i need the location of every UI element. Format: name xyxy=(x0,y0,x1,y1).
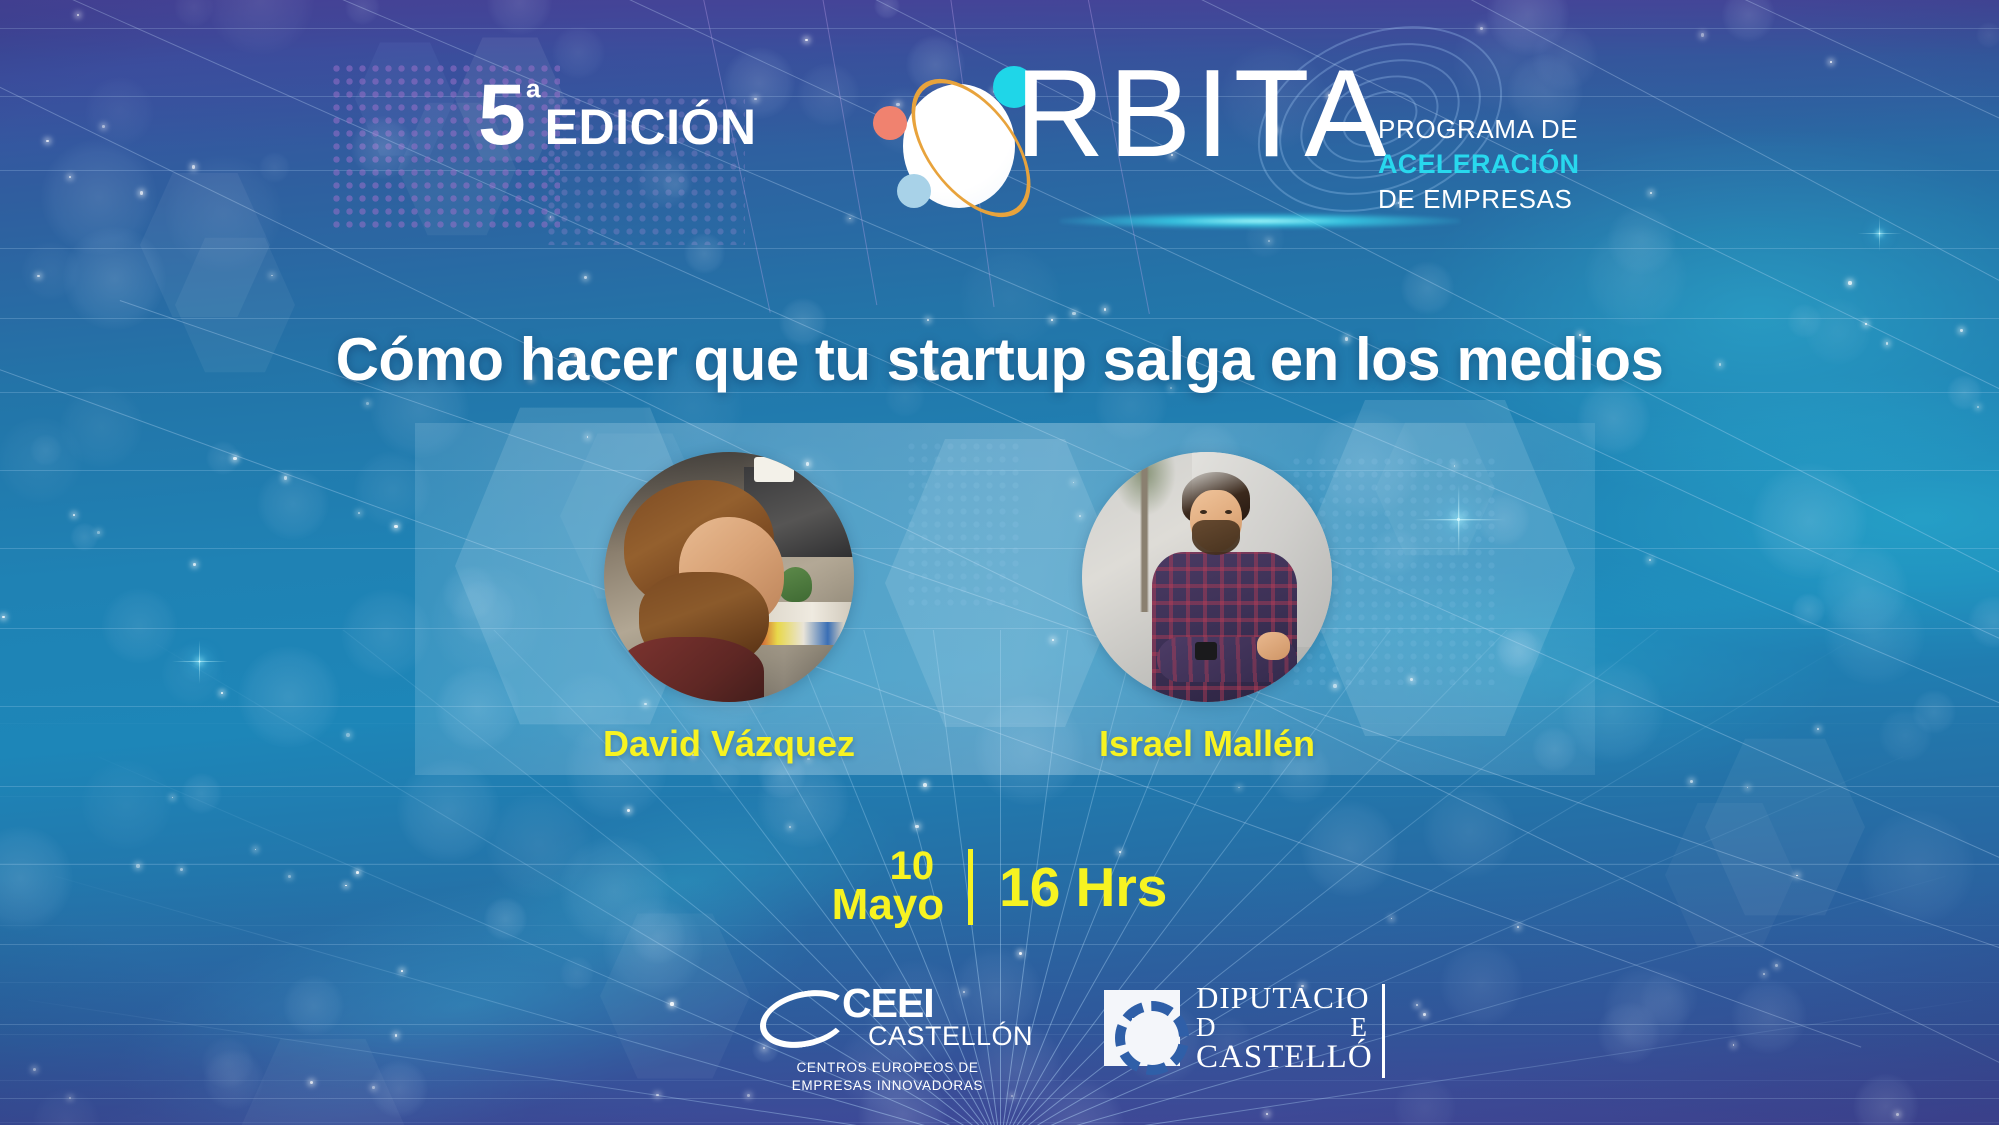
photo2-beard xyxy=(1192,520,1240,555)
ceei-descriptor-line-2: EMPRESAS INNOVADORAS xyxy=(760,1077,1015,1095)
photo2-wristwatch xyxy=(1195,642,1218,660)
orbit-dot-pale-blue xyxy=(897,174,931,208)
promo-poster: 5ªEDICIÓN RBITA PROGRAMA DE ACELERACIÓN … xyxy=(0,0,1999,1125)
page-title: Cómo hacer que tu startup salga en los m… xyxy=(0,325,1999,394)
diputacio-wordmark: DIPUTACIO D E CASTELLÓ xyxy=(1196,982,1373,1075)
photo1-torso xyxy=(619,637,764,702)
edition-ordinal: ª xyxy=(526,77,541,121)
orbit-dot-coral xyxy=(873,106,907,140)
photo1-lamp xyxy=(754,457,794,482)
tagline-line-2: ACELERACIÓN xyxy=(1378,147,1579,183)
speaker-photo-1 xyxy=(604,452,854,702)
photo2-eye-left xyxy=(1200,510,1207,514)
panel-hex-right xyxy=(1295,393,1575,743)
event-date: 10 Mayo xyxy=(832,848,968,926)
diputacio-vertical-rule xyxy=(1382,984,1385,1078)
brand-tagline: PROGRAMA DE ACELERACIÓN DE EMPRESAS xyxy=(1378,112,1579,217)
speaker-name-1: David Vázquez xyxy=(554,723,904,765)
floor-horizontal-line xyxy=(0,1122,1999,1123)
ceei-descriptor-line-1: CENTROS EUROPEOS DE xyxy=(760,1059,1015,1077)
floor-horizontal-line xyxy=(0,982,1999,983)
ceei-descriptor: CENTROS EUROPEOS DE EMPRESAS INNOVADORAS xyxy=(760,1059,1015,1095)
speaker-avatar-1 xyxy=(604,452,854,702)
edition-number: 5 xyxy=(478,67,524,163)
diputacio-line-1: DIPUTACIO xyxy=(1196,982,1373,1014)
photo2-eye-right xyxy=(1225,510,1232,514)
speaker-avatar-2 xyxy=(1082,452,1332,702)
diputacio-line-3: CASTELLÓ xyxy=(1196,1041,1373,1075)
diputacio-emblem-icon xyxy=(1104,990,1180,1066)
speaker-photo-2 xyxy=(1082,452,1332,702)
tagline-line-1: PROGRAMA DE xyxy=(1378,112,1579,147)
ceei-logo: CEEI CASTELLÓN CENTROS EUROPEOS DE EMPRE… xyxy=(760,985,1015,1094)
diputacio-line-2-left: D xyxy=(1196,1014,1217,1042)
ceei-name: CEEI xyxy=(842,985,1033,1023)
diputacio-line-2: D E xyxy=(1196,1014,1368,1042)
brand-wordmark: RBITA xyxy=(1015,52,1391,176)
diputacio-line-2-right: E xyxy=(1351,1014,1369,1042)
ceei-city: CASTELLÓN xyxy=(868,1023,1033,1050)
diputacio-logo: DIPUTACIO D E CASTELLÓ xyxy=(1104,982,1373,1075)
floor-horizontal-line xyxy=(0,796,1999,797)
ceei-wordmark: CEEI CASTELLÓN xyxy=(842,985,1033,1050)
star-glint-left xyxy=(199,661,201,663)
ceei-swoosh-icon xyxy=(760,984,850,1054)
photo2-hand xyxy=(1257,632,1290,660)
speaker-name-2: Israel Mallén xyxy=(1032,723,1382,765)
event-datetime: 10 Mayo 16 Hrs xyxy=(0,848,1999,926)
ceei-logo-top: CEEI CASTELLÓN xyxy=(760,985,1015,1050)
star-glint-far-right xyxy=(1879,233,1881,235)
edition-label: 5ªEDICIÓN xyxy=(478,72,751,158)
event-month: Mayo xyxy=(832,885,944,926)
event-time: 16 Hrs xyxy=(973,855,1167,919)
edition-word: EDICIÓN xyxy=(545,99,757,155)
tagline-line-3: DE EMPRESAS xyxy=(1378,182,1579,217)
